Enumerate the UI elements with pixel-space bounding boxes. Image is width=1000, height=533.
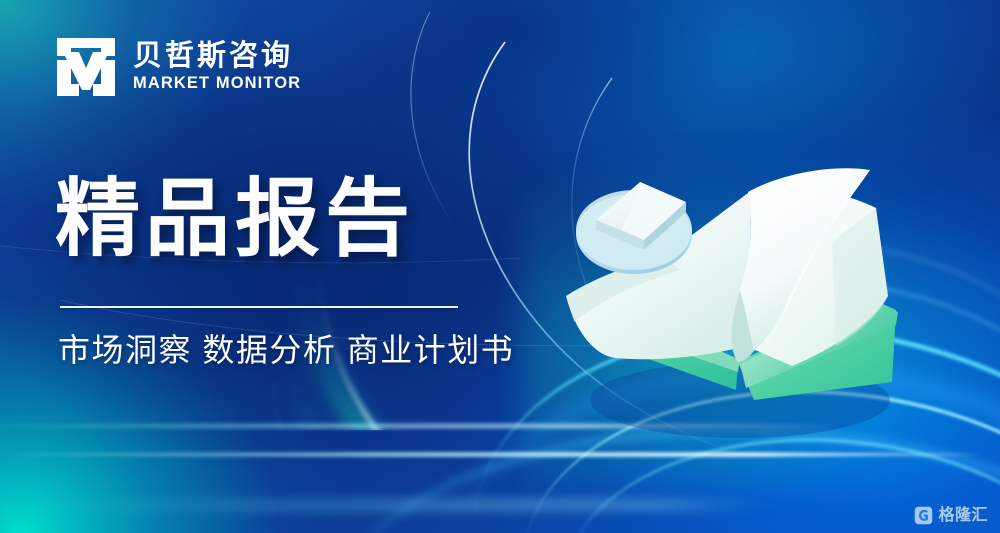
market-monitor-m-mark-icon — [55, 36, 117, 98]
brand-name-en: MARKET MONITOR — [133, 75, 301, 92]
title-divider — [60, 306, 458, 308]
open-book-illustration — [540, 150, 940, 440]
page-subtitle: 市场洞察 数据分析 商业计划书 — [58, 330, 514, 370]
report-banner: 贝哲斯咨询 MARKET MONITOR 精品报告 市场洞察 数据分析 商业计划… — [0, 0, 1000, 533]
gelonghui-g-mark-icon — [914, 506, 933, 525]
watermark: 格隆汇 — [914, 506, 988, 525]
watermark-text: 格隆汇 — [938, 508, 988, 524]
light-streak-glow — [0, 500, 780, 510]
brand-logo: 贝哲斯咨询 MARKET MONITOR — [55, 36, 301, 98]
brand-name-cn: 贝哲斯咨询 — [133, 42, 301, 71]
light-streak-2 — [0, 452, 980, 457]
page-title: 精品报告 — [55, 175, 415, 264]
